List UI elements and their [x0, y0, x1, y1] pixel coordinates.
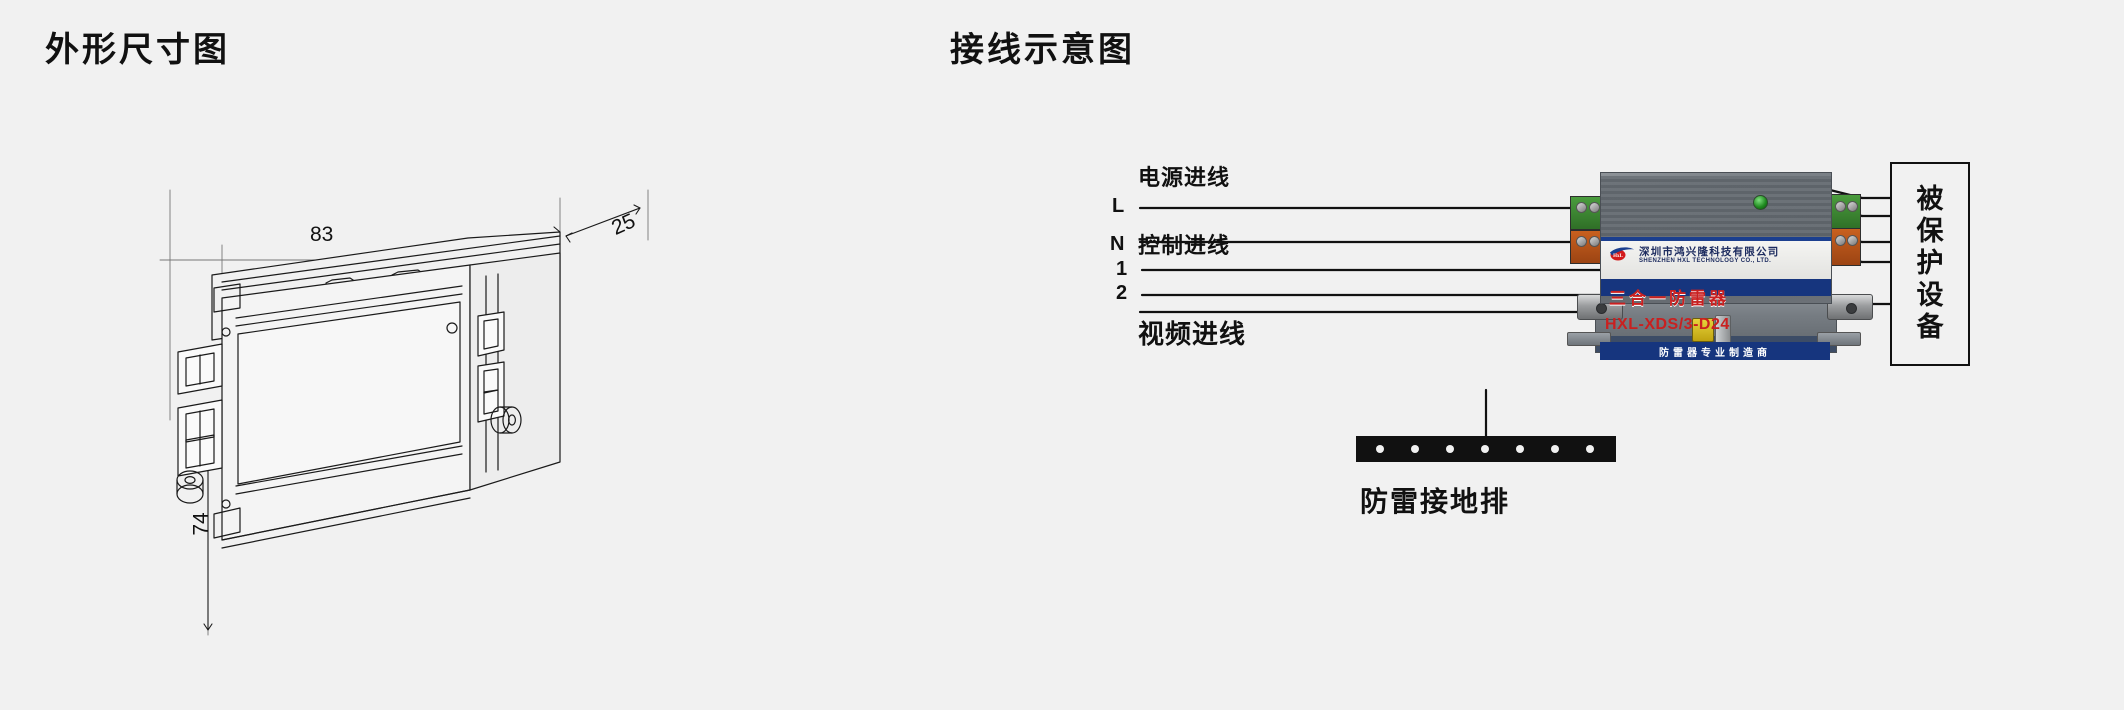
- terminal-screw: [1589, 202, 1600, 213]
- terminal-screw: [1847, 201, 1858, 212]
- terminal-block-green-in: [1570, 196, 1604, 230]
- label-control-input: 控制进线: [1138, 228, 1230, 260]
- ground-bar-hole: [1411, 445, 1419, 453]
- terminal-block-orange-in: [1570, 230, 1604, 264]
- svg-text:HxL: HxL: [1613, 254, 1623, 259]
- terminal-screw: [1576, 202, 1587, 213]
- terminal-screw: [1835, 201, 1846, 212]
- protected-equipment-char-3: 护: [1917, 248, 1944, 280]
- device-label-panel: HxL 深圳市鸿兴隆科技有限公司 SHENZHEN HXL TECHNOLOGY…: [1601, 241, 1831, 279]
- device-company-name-en: SHENZHEN HXL TECHNOLOGY CO., LTD.: [1639, 258, 1771, 264]
- pin-label-1: 1: [1116, 258, 1127, 281]
- terminal-block-orange-out: [1829, 228, 1861, 266]
- protected-equipment-char-5: 备: [1917, 312, 1944, 344]
- protected-equipment-char-1: 被: [1917, 184, 1944, 216]
- status-led-icon: [1753, 195, 1768, 210]
- protected-equipment-char-2: 保: [1917, 216, 1944, 248]
- ground-bar-hole: [1516, 445, 1524, 453]
- dimension-drawing: 83 25 74: [0, 90, 900, 650]
- ground-bar-hole: [1446, 445, 1454, 453]
- protected-equipment-char-4: 设: [1917, 280, 1944, 312]
- device-product-name: 三合一防雷器: [1609, 284, 1729, 309]
- terminal-block-green-out: [1829, 194, 1861, 230]
- protected-equipment-box: 被 保 护 设 备: [1890, 162, 1970, 366]
- label-ground-bar: 防雷接地排: [1360, 480, 1510, 520]
- pin-label-n: N: [1110, 233, 1124, 256]
- pin-label-2: 2: [1116, 282, 1127, 305]
- dimension-label-height: 74: [190, 512, 214, 535]
- device-heatsink-ribs: [1601, 176, 1831, 238]
- hxl-brand-logo-icon: HxL: [1607, 245, 1635, 263]
- surge-protector-device: HxL 深圳市鸿兴隆科技有限公司 SHENZHEN HXL TECHNOLOGY…: [1555, 172, 1875, 372]
- label-power-input: 电源进线: [1138, 160, 1230, 192]
- terminal-screw: [1576, 236, 1587, 247]
- ground-bar-hole: [1586, 445, 1594, 453]
- dimension-label-width: 83: [310, 223, 333, 247]
- page-title-dimension-drawing: 外形尺寸图: [45, 22, 230, 71]
- terminal-screw: [1835, 235, 1846, 246]
- ground-bar-hole: [1481, 445, 1489, 453]
- ground-bar: [1356, 436, 1616, 462]
- device-model-number: HXL-XDS/3-D24: [1605, 316, 1730, 334]
- bnc-connector-out: [1827, 294, 1873, 320]
- label-video-input: 视频进线: [1138, 314, 1246, 351]
- bnc-core-in: [1596, 303, 1607, 314]
- device-company-name-cn: 深圳市鸿兴隆科技有限公司: [1639, 244, 1779, 259]
- pin-label-l: L: [1112, 195, 1124, 218]
- page-title-wiring-diagram: 接线示意图: [950, 22, 1135, 71]
- terminal-screw: [1589, 236, 1600, 247]
- wiring-diagram: 电源进线 L N 控制进线 1 2 视频进线: [1080, 90, 2124, 710]
- dimension-drawing-svg: [0, 90, 900, 650]
- device-slogan-bar: 防雷器专业制造商: [1600, 342, 1830, 360]
- ground-bar-hole: [1376, 445, 1384, 453]
- ground-bar-hole: [1551, 445, 1559, 453]
- terminal-screw: [1847, 235, 1858, 246]
- device-slogan: 防雷器专业制造商: [1600, 344, 1830, 359]
- bnc-core-out: [1846, 303, 1857, 314]
